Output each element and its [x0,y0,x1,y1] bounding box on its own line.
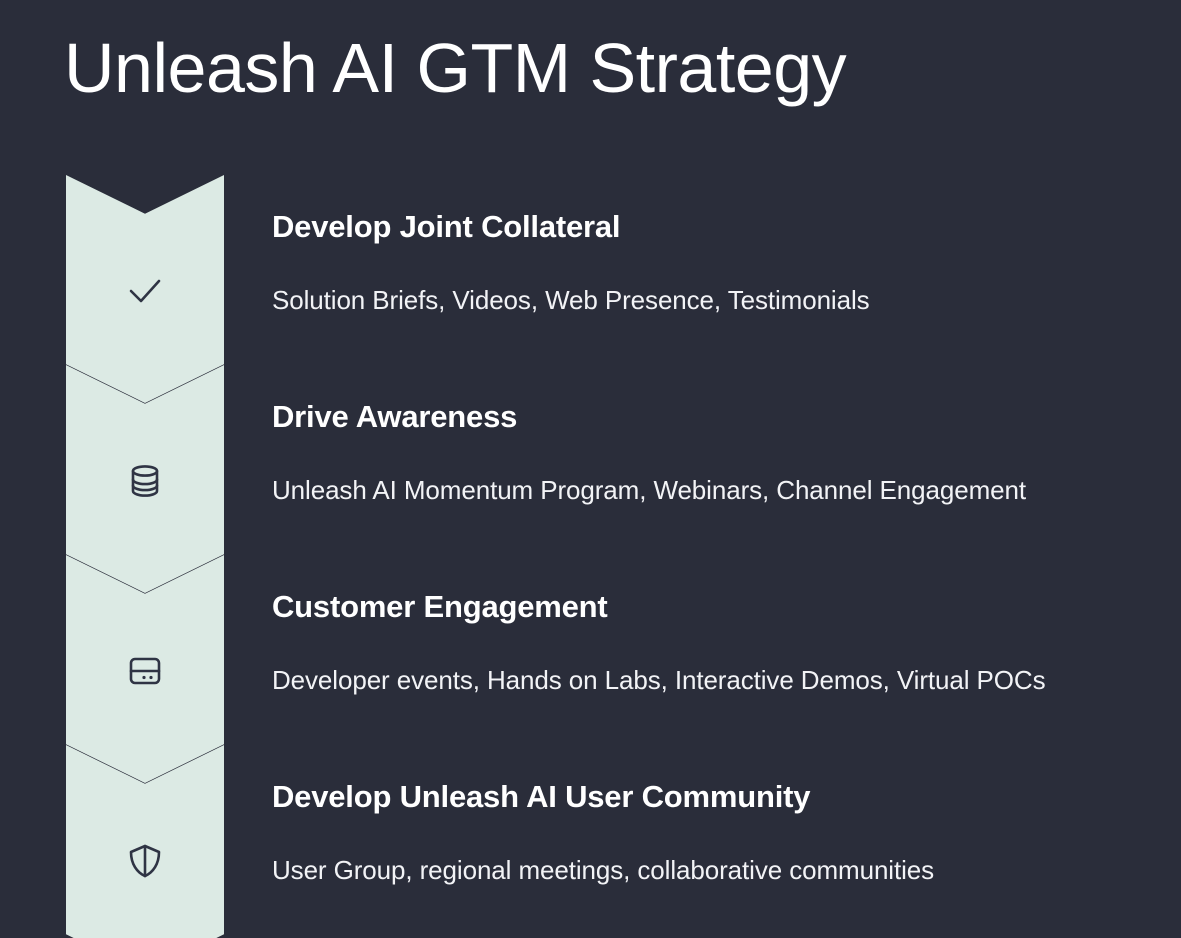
step-text-2: Drive Awareness Unleash AI Momentum Prog… [272,401,1161,503]
server-icon [122,648,168,694]
step-heading: Customer Engagement [272,591,1161,622]
step-detail: User Group, regional meetings, collabora… [272,857,1161,883]
gtm-strategy-slide: Unleash AI GTM Strategy [0,0,1181,938]
step-heading: Develop Unleash AI User Community [272,781,1161,812]
chevron-step-rail [66,175,224,938]
step-detail: Unleash AI Momentum Program, Webinars, C… [272,477,1161,503]
check-icon [122,268,168,314]
database-icon [122,458,168,504]
step-text-4: Develop Unleash AI User Community User G… [272,781,1161,883]
step-detail: Developer events, Hands on Labs, Interac… [272,667,1161,693]
step-heading: Develop Joint Collateral [272,211,1161,242]
step-heading: Drive Awareness [272,401,1161,432]
step-text-1: Develop Joint Collateral Solution Briefs… [272,211,1161,313]
page-title: Unleash AI GTM Strategy [64,33,846,103]
chevron-step-4[interactable] [66,745,224,938]
shield-icon [122,838,168,884]
step-detail: Solution Briefs, Videos, Web Presence, T… [272,287,1161,313]
step-text-3: Customer Engagement Developer events, Ha… [272,591,1161,693]
